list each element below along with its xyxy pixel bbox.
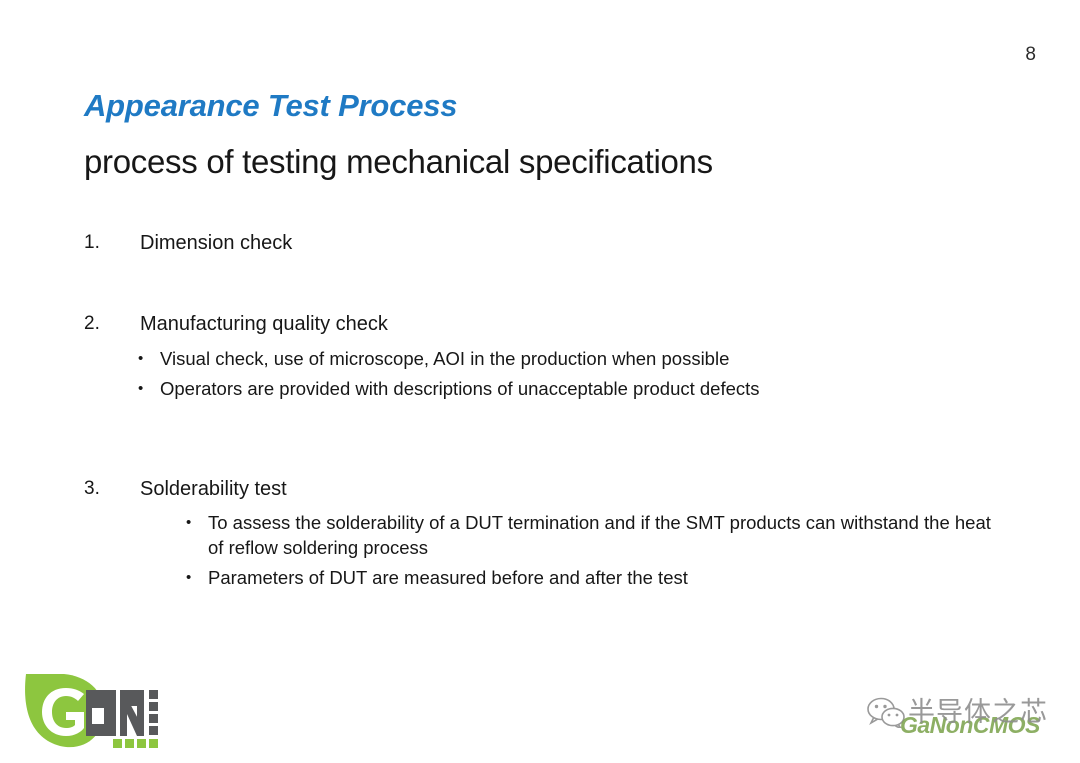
sub-bullet-item: • Parameters of DUT are measured before … [186, 565, 688, 590]
list-item-marker: 2. [84, 313, 140, 335]
pixel-square-gray [149, 690, 158, 699]
list-item: 2. Manufacturing quality check [84, 313, 388, 336]
bullet-dot-icon: • [138, 376, 160, 401]
pixel-square-green [137, 739, 146, 748]
letter-n-stem-left [120, 690, 127, 736]
watermark-chinese-text: 半导体之芯 [908, 690, 1048, 729]
pixel-square-green [113, 739, 122, 748]
sub-bullet-item: • Operators are provided with descriptio… [138, 376, 760, 401]
pixel-square-gray [149, 702, 158, 711]
wechat-watermark: GaNonCMOS 半导体之芯 [866, 688, 1066, 746]
page-title: Appearance Test Process [84, 88, 457, 124]
list-item-marker: 1. [84, 232, 140, 254]
pixel-square-gray [149, 714, 158, 723]
list-item: 3. Solderability test [84, 478, 287, 501]
sub-bullet-label: Operators are provided with descriptions… [160, 376, 760, 401]
sub-bullet-label: Visual check, use of microscope, AOI in … [160, 346, 729, 371]
pixel-square-gray [149, 726, 158, 735]
list-item-label: Dimension check [140, 232, 292, 255]
page-subtitle: process of testing mechanical specificat… [84, 143, 713, 181]
list-item-label: Solderability test [140, 478, 287, 501]
bullet-dot-icon: • [186, 565, 208, 590]
pixel-square-green [149, 739, 158, 748]
slide-canvas: 8 Appearance Test Process process of tes… [0, 0, 1080, 763]
list-item-marker: 3. [84, 478, 140, 500]
sub-bullet-label: Parameters of DUT are measured before an… [208, 565, 688, 590]
bullet-dot-icon: • [186, 510, 208, 535]
sub-bullet-item: • To assess the solderability of a DUT t… [186, 510, 1008, 560]
list-item: 1. Dimension check [84, 232, 292, 255]
list-item-label: Manufacturing quality check [140, 313, 388, 336]
sub-bullet-label: To assess the solderability of a DUT ter… [208, 510, 1008, 560]
page-number: 8 [1025, 44, 1036, 66]
bullet-dot-icon: • [138, 346, 160, 371]
pixel-square-green [125, 739, 134, 748]
sub-bullet-item: • Visual check, use of microscope, AOI i… [138, 346, 729, 371]
gan-logo [20, 668, 180, 754]
